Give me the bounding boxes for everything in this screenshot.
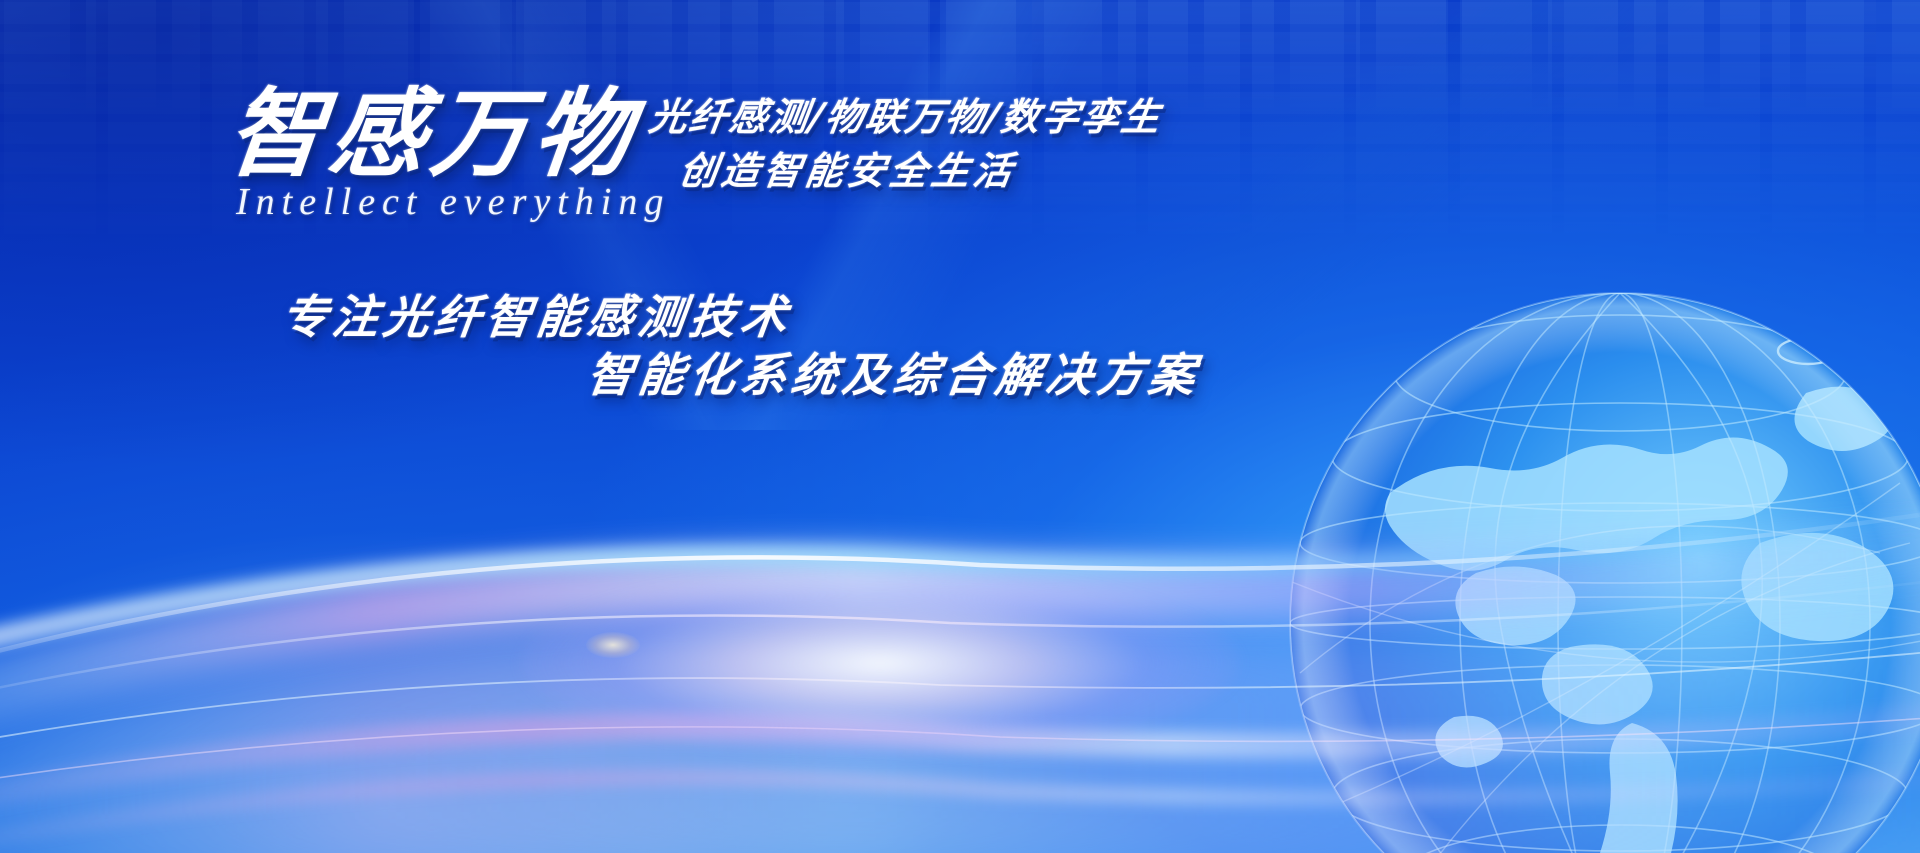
hero-banner: 智感万物 Intellect everything 光纤感测/物联万物/数字孪生… bbox=[0, 0, 1920, 853]
slogan-line-1: 光纤感测/物联万物/数字孪生 bbox=[646, 86, 1165, 141]
banner-text-layer: 智感万物 Intellect everything 光纤感测/物联万物/数字孪生… bbox=[0, 0, 1920, 853]
headline-chinese: 智感万物 bbox=[223, 86, 641, 182]
tagline-line-2: 智能化系统及综合解决方案 bbox=[584, 339, 1204, 405]
slogan-line-2: 创造智能安全生活 bbox=[676, 140, 1020, 195]
tagline-line-1: 专注光纤智能感测技术 bbox=[278, 281, 796, 347]
headline-english: Intellect everything bbox=[236, 180, 670, 224]
